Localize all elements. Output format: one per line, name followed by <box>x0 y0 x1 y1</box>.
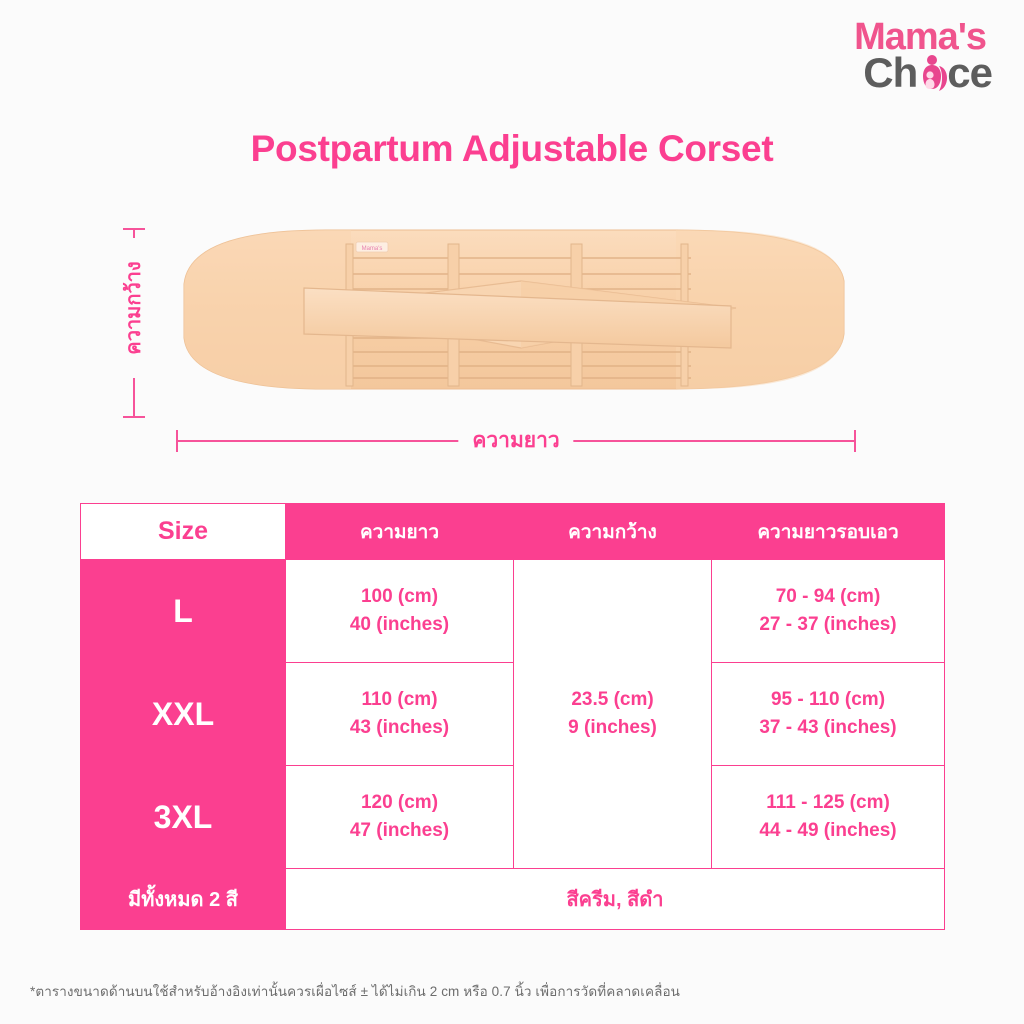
cell-length-xxl-cm: 110 (cm) <box>286 686 513 714</box>
table-row: L 100 (cm) 40 (inches) 23.5 (cm) 9 (inch… <box>81 560 945 663</box>
header-waist: ความยาวรอบเอว <box>712 504 945 560</box>
cell-waist-l-in: 27 - 37 (inches) <box>712 611 944 639</box>
cell-colors-label: มีทั้งหมด 2 สี <box>81 869 286 930</box>
size-chart-table: Size ความยาว ความกว้าง ความยาวรอบเอว L 1… <box>80 503 945 930</box>
table-row: XXL 110 (cm) 43 (inches) 95 - 110 (cm) 3… <box>81 663 945 766</box>
cell-width-in: 9 (inches) <box>514 714 711 742</box>
brand-choice-suffix: ce <box>947 52 992 94</box>
header-width: ความกว้าง <box>514 504 712 560</box>
footnote-disclaimer: *ตารางขนาดด้านบนใช้สำหรับอ้างอิงเท่านั้น… <box>30 980 680 1002</box>
cell-waist-xxl-in: 37 - 43 (inches) <box>712 714 944 742</box>
svg-text:Mama's: Mama's <box>362 246 383 252</box>
cell-waist-3xl-cm: 111 - 125 (cm) <box>712 789 944 817</box>
cell-waist-l: 70 - 94 (cm) 27 - 37 (inches) <box>712 560 945 663</box>
cell-waist-xxl-cm: 95 - 110 (cm) <box>712 686 944 714</box>
measure-length-cap-right <box>854 430 856 452</box>
cell-length-xxl: 110 (cm) 43 (inches) <box>286 663 514 766</box>
cell-size-l: L <box>81 560 286 663</box>
cell-length-3xl-cm: 120 (cm) <box>286 789 513 817</box>
table-header-row: Size ความยาว ความกว้าง ความยาวรอบเอว <box>81 504 945 560</box>
cell-waist-3xl: 111 - 125 (cm) 44 - 49 (inches) <box>712 766 945 869</box>
measure-width-indicator: ความกว้าง <box>112 228 156 418</box>
measure-length-label: ความยาว <box>458 424 573 458</box>
header-size: Size <box>81 504 286 560</box>
cell-length-3xl: 120 (cm) 47 (inches) <box>286 766 514 869</box>
measure-width-cap-bottom <box>123 416 145 418</box>
cell-width-shared: 23.5 (cm) 9 (inches) <box>514 560 712 869</box>
cell-waist-xxl: 95 - 110 (cm) 37 - 43 (inches) <box>712 663 945 766</box>
cell-colors-value: สีครีม, สีดำ <box>286 869 945 930</box>
cell-length-l: 100 (cm) 40 (inches) <box>286 560 514 663</box>
cell-length-l-cm: 100 (cm) <box>286 583 513 611</box>
brand-name-choice: Ch ce <box>812 52 992 94</box>
cell-waist-l-cm: 70 - 94 (cm) <box>712 583 944 611</box>
table-row-colors: มีทั้งหมด 2 สี สีครีม, สีดำ <box>81 869 945 930</box>
cell-waist-3xl-in: 44 - 49 (inches) <box>712 817 944 845</box>
cell-length-xxl-in: 43 (inches) <box>286 714 513 742</box>
table-row: 3XL 120 (cm) 47 (inches) 111 - 125 (cm) … <box>81 766 945 869</box>
page-title: Postpartum Adjustable Corset <box>0 128 1024 170</box>
brand-choice-prefix: Ch <box>863 52 917 94</box>
cell-size-xxl: XXL <box>81 663 286 766</box>
brand-logo: Mama's Ch ce <box>812 18 992 94</box>
measure-length-indicator: ความยาว <box>176 424 856 458</box>
cell-length-l-in: 40 (inches) <box>286 611 513 639</box>
mother-and-baby-icon <box>915 53 949 93</box>
cell-size-3xl: 3XL <box>81 766 286 869</box>
cell-length-3xl-in: 47 (inches) <box>286 817 513 845</box>
measure-width-label: ความกว้าง <box>113 238 153 378</box>
cell-width-cm: 23.5 (cm) <box>514 686 711 714</box>
postpartum-corset-illustration: Mama's <box>176 226 856 394</box>
header-length: ความยาว <box>286 504 514 560</box>
